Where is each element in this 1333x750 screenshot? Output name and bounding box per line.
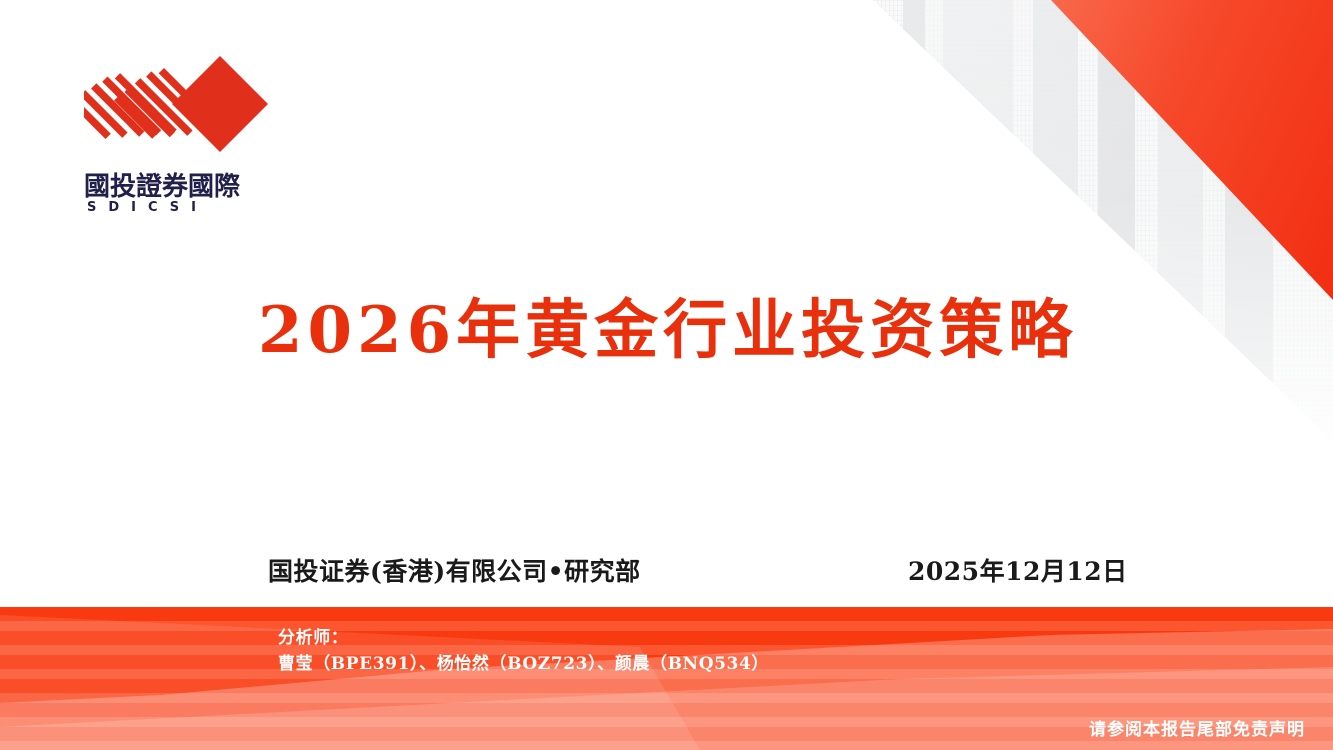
- analyst-block: 分析师： 曹莹（BPE391）、杨怡然（BOZ723）、颜晨（BNQ534）: [278, 625, 769, 678]
- logo-latin-text: SDICSI: [87, 200, 208, 214]
- red-diagonal-band: [873, 0, 1333, 300]
- analyst-label: 分析师：: [278, 625, 769, 651]
- logo-chinese-text: 國投證券國際: [84, 171, 240, 202]
- company-logo: 國投證券國際 SDICSI: [84, 52, 304, 214]
- report-date: 2025年12月12日: [908, 552, 1128, 588]
- disclaimer-text: 请参阅本报告尾部免责声明: [1089, 715, 1305, 740]
- slide-title: 2026年黄金行业投资策略: [258, 296, 1138, 366]
- analyst-names: 曹莹（BPE391）、杨怡然（BOZ723）、颜晨（BNQ534）: [278, 651, 769, 677]
- logo-diamond-mark: [84, 52, 270, 164]
- logo-wordmark: 國投證券國際 SDICSI: [84, 168, 284, 214]
- cover-slide: 國投證券國際 SDICSI 2026年黄金行业投资策略 国投证券(香港)有限公司…: [0, 0, 1333, 750]
- footer-band: 分析师： 曹莹（BPE391）、杨怡然（BOZ723）、颜晨（BNQ534） 请…: [0, 607, 1333, 750]
- company-affiliation: 国投证券(香港)有限公司•研究部: [268, 552, 641, 588]
